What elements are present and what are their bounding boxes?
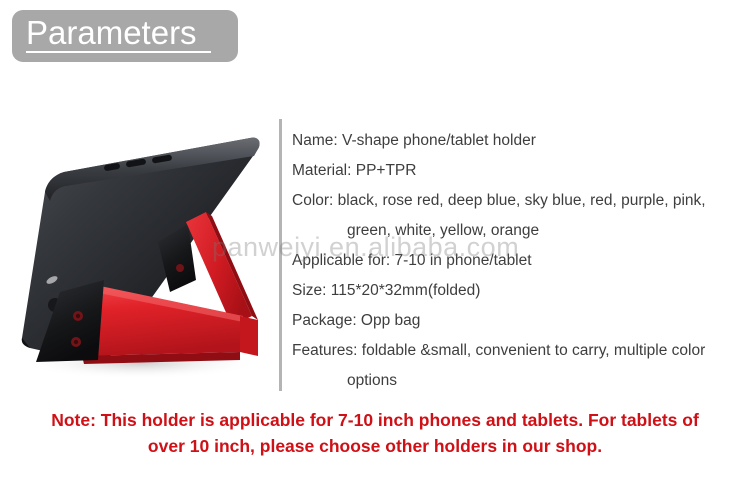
product-illustration	[0, 120, 275, 385]
spec-row-package: Package: Opp bag	[292, 306, 744, 336]
spec-row-features: Features: foldable &small, convenient to…	[292, 336, 744, 396]
spec-text-line1: Name: V-shape phone/tablet holder	[292, 132, 536, 149]
spec-row-size: Size: 115*20*32mm(folded)	[292, 276, 744, 306]
spec-text-line1: Package: Opp bag	[292, 312, 420, 329]
specification-list: Name: V-shape phone/tablet holder Materi…	[292, 126, 744, 396]
spec-row-applicable-for: Applicable for: 7-10 in phone/tablet	[292, 246, 744, 276]
spec-text-line1: Material: PP+TPR	[292, 162, 416, 179]
spec-row-color: Color: black, rose red, deep blue, sky b…	[292, 186, 744, 246]
stand-front-arm	[82, 286, 243, 364]
spec-text-line1: Size: 115*20*32mm(folded)	[292, 282, 480, 299]
spec-text-line1: Color: black, rose red, deep blue, sky b…	[292, 192, 669, 209]
bottom-note-line-1: Note: This holder is applicable for 7-10…	[0, 407, 750, 433]
spec-text-line1: Applicable for: 7-10 in phone/tablet	[292, 252, 532, 269]
page-title-underline	[26, 51, 211, 53]
bottom-note: Note: This holder is applicable for 7-10…	[0, 407, 750, 459]
spec-text-line1: Features: foldable &small, convenient to…	[292, 342, 667, 359]
stand-end-cap	[240, 316, 258, 356]
product-image	[0, 120, 275, 385]
spec-row-material: Material: PP+TPR	[292, 156, 744, 186]
bottom-note-line-2: over 10 inch, please choose other holder…	[0, 433, 750, 459]
page-title: Parameters	[26, 14, 197, 52]
spec-row-name: Name: V-shape phone/tablet holder	[292, 126, 744, 156]
section-divider	[279, 119, 282, 391]
